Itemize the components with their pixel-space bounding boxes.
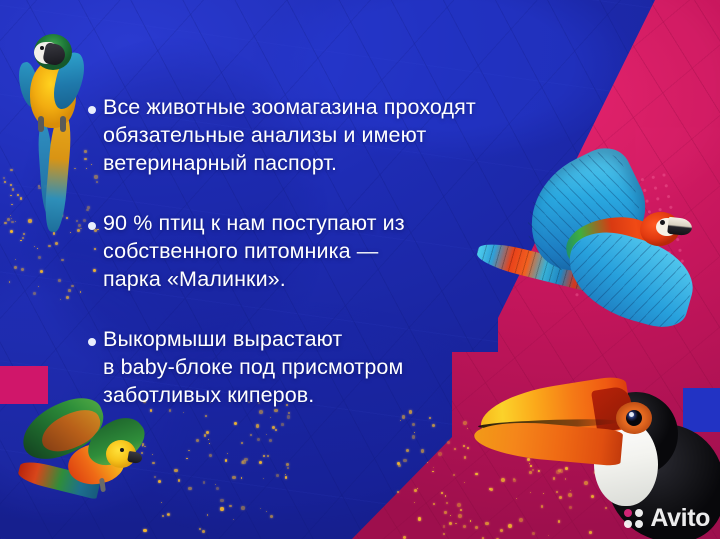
avito-pet-shop-banner: Все животные зоомагазина проходят обязат…	[0, 0, 720, 539]
bullet-list: Все животные зоомагазина проходят обязат…	[88, 94, 518, 409]
avito-wordmark: Avito	[650, 506, 710, 531]
bullet-item-baby-block: Выкормыши вырастают в baby-блоке под при…	[88, 326, 518, 410]
bullet-text-own-nursery: 90 % птиц к нам поступают из собственног…	[103, 210, 405, 294]
bullet-text-health-checks: Все животные зоомагазина проходят обязат…	[103, 94, 476, 178]
avito-watermark: Avito	[624, 506, 710, 531]
conure-sun-image	[14, 404, 164, 524]
bullet-item-own-nursery: 90 % птиц к нам поступают из собственног…	[88, 210, 518, 294]
bullet-item-health-checks: Все животные зоомагазина проходят обязат…	[88, 94, 518, 178]
bullet-dot-icon	[88, 106, 96, 114]
bullet-dot-icon	[88, 222, 96, 230]
avito-logo-icon	[624, 509, 643, 528]
bullet-dot-icon	[88, 338, 96, 346]
accent-block-magenta	[0, 366, 48, 404]
bullet-text-baby-block: Выкормыши вырастают в baby-блоке под при…	[103, 326, 403, 410]
